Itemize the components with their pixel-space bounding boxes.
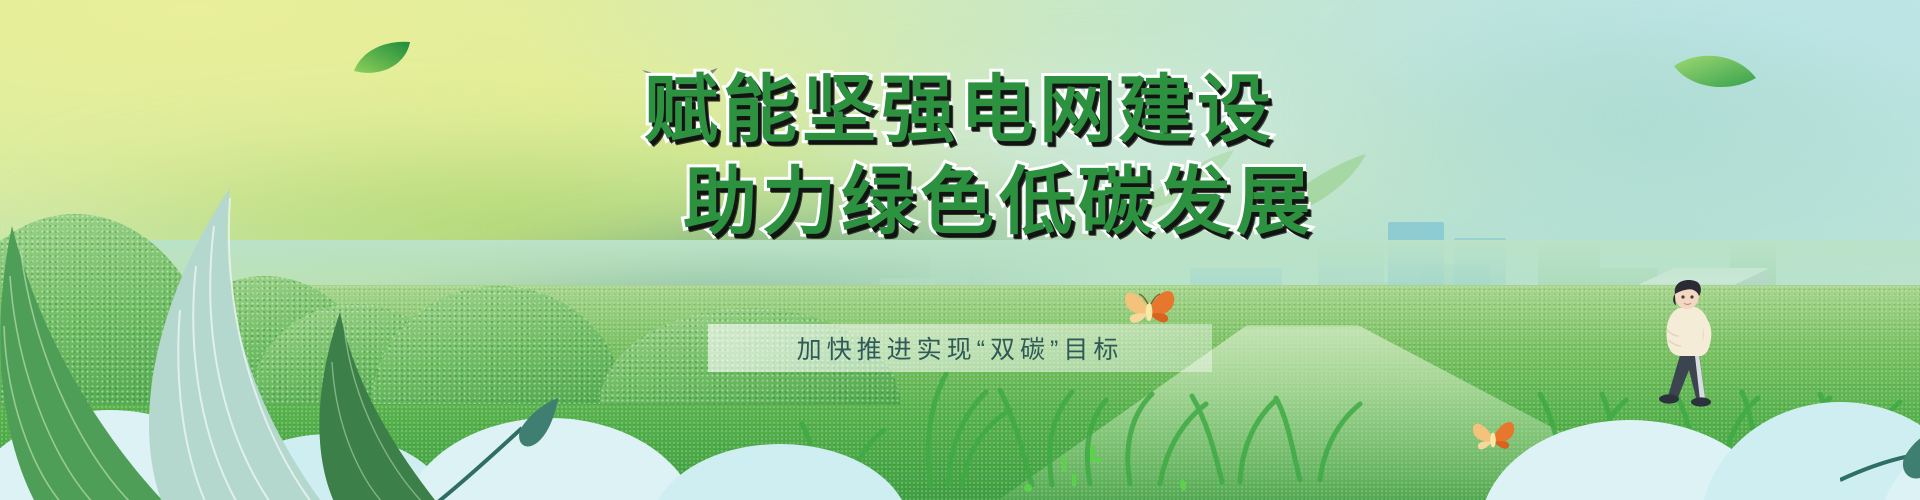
floating-leaf-right [1672,48,1758,96]
stemmed-leaf-right [1840,394,1920,494]
floating-leaf-left [352,38,412,78]
walking-person [1655,278,1725,418]
butterfly-icon-grass [1470,418,1516,454]
swallow-bird-icon [630,68,722,124]
subtitle-text: 加快推进实现“双碳”目标 [797,330,1124,366]
banner-root: 赋能坚强电网建设 助力绿色低碳发展 加快推进实现“双碳”目标 [0,0,1920,500]
floating-leaf-blade-mid [1122,148,1242,218]
subtitle-panel: 加快推进实现“双碳”目标 [708,324,1212,372]
stemmed-leaf-left [430,384,560,500]
butterfly-icon-title [1122,286,1176,328]
cloud-arc [650,444,910,500]
floating-leaf-blade-right [1250,150,1370,230]
